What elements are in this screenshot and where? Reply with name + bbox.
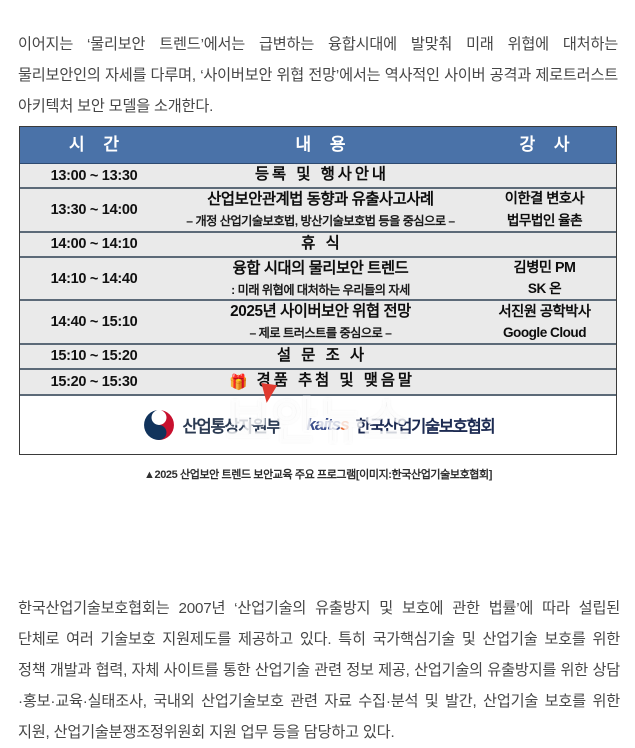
cell-time: 14:10 ~ 14:40 [20, 257, 168, 301]
topic-title: 🎁경품 추첨 및 맺음말 [168, 370, 473, 395]
figure-caption: ▲2025 산업보안 트렌드 보안교육 주요 프로그램[이미지:한국산업기술보호… [19, 466, 617, 482]
column-header-time: 시 간 [20, 127, 168, 164]
topic-title: 산업보안관계법 동향과 유출사고사례 [168, 189, 473, 212]
kaits-label: 한국산업기술보호협회 [356, 413, 495, 437]
cell-speaker: 이한결 변호사 법무법인 율촌 [473, 188, 616, 232]
table-row: 14:40 ~ 15:10 2025년 사이버보안 위협 전망 – 제로 트러스… [20, 300, 616, 344]
column-header-speaker: 강 사 [473, 127, 616, 164]
table-row: 13:30 ~ 14:00 산업보안관계법 동향과 유출사고사례 – 개정 산업… [20, 188, 616, 232]
program-figure: 시 간 내 용 강 사 13:00 ~ 13:30 등록 및 행사안내 [19, 126, 617, 482]
program-table-body: 13:00 ~ 13:30 등록 및 행사안내 13:30 ~ 14:00 산업… [20, 164, 616, 395]
speaker-affiliation: Google Cloud [473, 323, 616, 343]
topic-title: 융합 시대의 물리보안 트렌드 [168, 258, 473, 281]
cell-speaker [473, 232, 616, 257]
speaker-affiliation: 법무법인 율촌 [473, 211, 616, 231]
cell-time: 13:30 ~ 14:00 [20, 188, 168, 232]
column-header-topic: 내 용 [168, 127, 473, 164]
cell-speaker [473, 344, 616, 369]
speaker-affiliation: SK 온 [473, 279, 616, 299]
motie-label: 산업통상자원부 [183, 413, 281, 437]
speaker-name: 이한결 변호사 [473, 189, 616, 210]
cell-speaker: 김병민 PM SK 온 [473, 257, 616, 301]
kaits-mark-text: kaits [306, 415, 340, 434]
topic-subtitle: – 개정 산업기술보호법, 방산기술보호법 등을 중심으로 – [168, 213, 473, 231]
kaits-logo: kaitss 한국산업기술보호협회 [306, 413, 494, 437]
cell-time: 14:00 ~ 14:10 [20, 232, 168, 257]
table-header-row: 시 간 내 용 강 사 [20, 127, 616, 164]
article-page: 이어지는 ‘물리보안 트렌드’에서는 급변하는 융합시대에 발맞춰 미래 위협에… [0, 0, 635, 716]
intro-paragraph: 이어지는 ‘물리보안 트렌드’에서는 급변하는 융합시대에 발맞춰 미래 위협에… [18, 29, 618, 122]
taegeuk-icon [142, 408, 176, 442]
cell-speaker: 서진원 공학박사 Google Cloud [473, 300, 616, 344]
speaker-name: 김병민 PM [473, 258, 616, 279]
topic-title: 휴 식 [168, 233, 473, 256]
cell-time: 15:10 ~ 15:20 [20, 344, 168, 369]
topic-title: 등록 및 행사안내 [168, 164, 473, 187]
speaker-name: 서진원 공학박사 [473, 302, 616, 323]
topic-title: 2025년 사이버보안 위협 전망 [168, 301, 473, 324]
cell-time: 15:20 ~ 15:30 [20, 369, 168, 395]
cell-topic: 산업보안관계법 동향과 유출사고사례 – 개정 산업기술보호법, 방산기술보호법… [168, 188, 473, 232]
cell-speaker [473, 164, 616, 188]
cell-topic: 설 문 조 사 [168, 344, 473, 369]
cell-speaker [473, 369, 616, 395]
logo-strip: 산업통상자원부 kaitss 한국산업기술보호협회 보안뉴스 [20, 394, 616, 454]
cell-time: 14:40 ~ 15:10 [20, 300, 168, 344]
program-table: 시 간 내 용 강 사 13:00 ~ 13:30 등록 및 행사안내 [20, 127, 616, 394]
motie-logo: 산업통상자원부 [142, 408, 281, 442]
cell-topic: 휴 식 [168, 232, 473, 257]
cell-topic: 등록 및 행사안내 [168, 164, 473, 188]
topic-subtitle: – 제로 트러스트를 중심으로 – [168, 325, 473, 343]
kaits-mark-icon: kaitss [306, 415, 348, 435]
table-row: 15:10 ~ 15:20 설 문 조 사 [20, 344, 616, 369]
cell-topic: 🎁경품 추첨 및 맺음말 [168, 369, 473, 395]
topic-title: 설 문 조 사 [168, 345, 473, 368]
table-row: 14:10 ~ 14:40 융합 시대의 물리보안 트렌드 : 미래 위협에 대… [20, 257, 616, 301]
program-table-head: 시 간 내 용 강 사 [20, 127, 616, 164]
topic-title-text: 경품 추첨 및 맺음말 [257, 372, 415, 389]
cell-topic: 2025년 사이버보안 위협 전망 – 제로 트러스트를 중심으로 – [168, 300, 473, 344]
cell-topic: 융합 시대의 물리보안 트렌드 : 미래 위협에 대처하는 우리들의 자세 [168, 257, 473, 301]
kaits-mark-accent: s [340, 415, 348, 434]
table-row: 15:20 ~ 15:30 🎁경품 추첨 및 맺음말 [20, 369, 616, 395]
gift-icon: 🎁 [229, 374, 251, 391]
table-row: 14:00 ~ 14:10 휴 식 [20, 232, 616, 257]
table-row: 13:00 ~ 13:30 등록 및 행사안내 [20, 164, 616, 188]
cell-time: 13:00 ~ 13:30 [20, 164, 168, 188]
program-table-image: 시 간 내 용 강 사 13:00 ~ 13:30 등록 및 행사안내 [19, 126, 617, 455]
closing-paragraph: 한국산업기술보호협회는 2007년 ‘산업기술의 유출방지 및 보호에 관한 법… [18, 593, 620, 748]
topic-subtitle: : 미래 위협에 대처하는 우리들의 자세 [168, 282, 473, 300]
